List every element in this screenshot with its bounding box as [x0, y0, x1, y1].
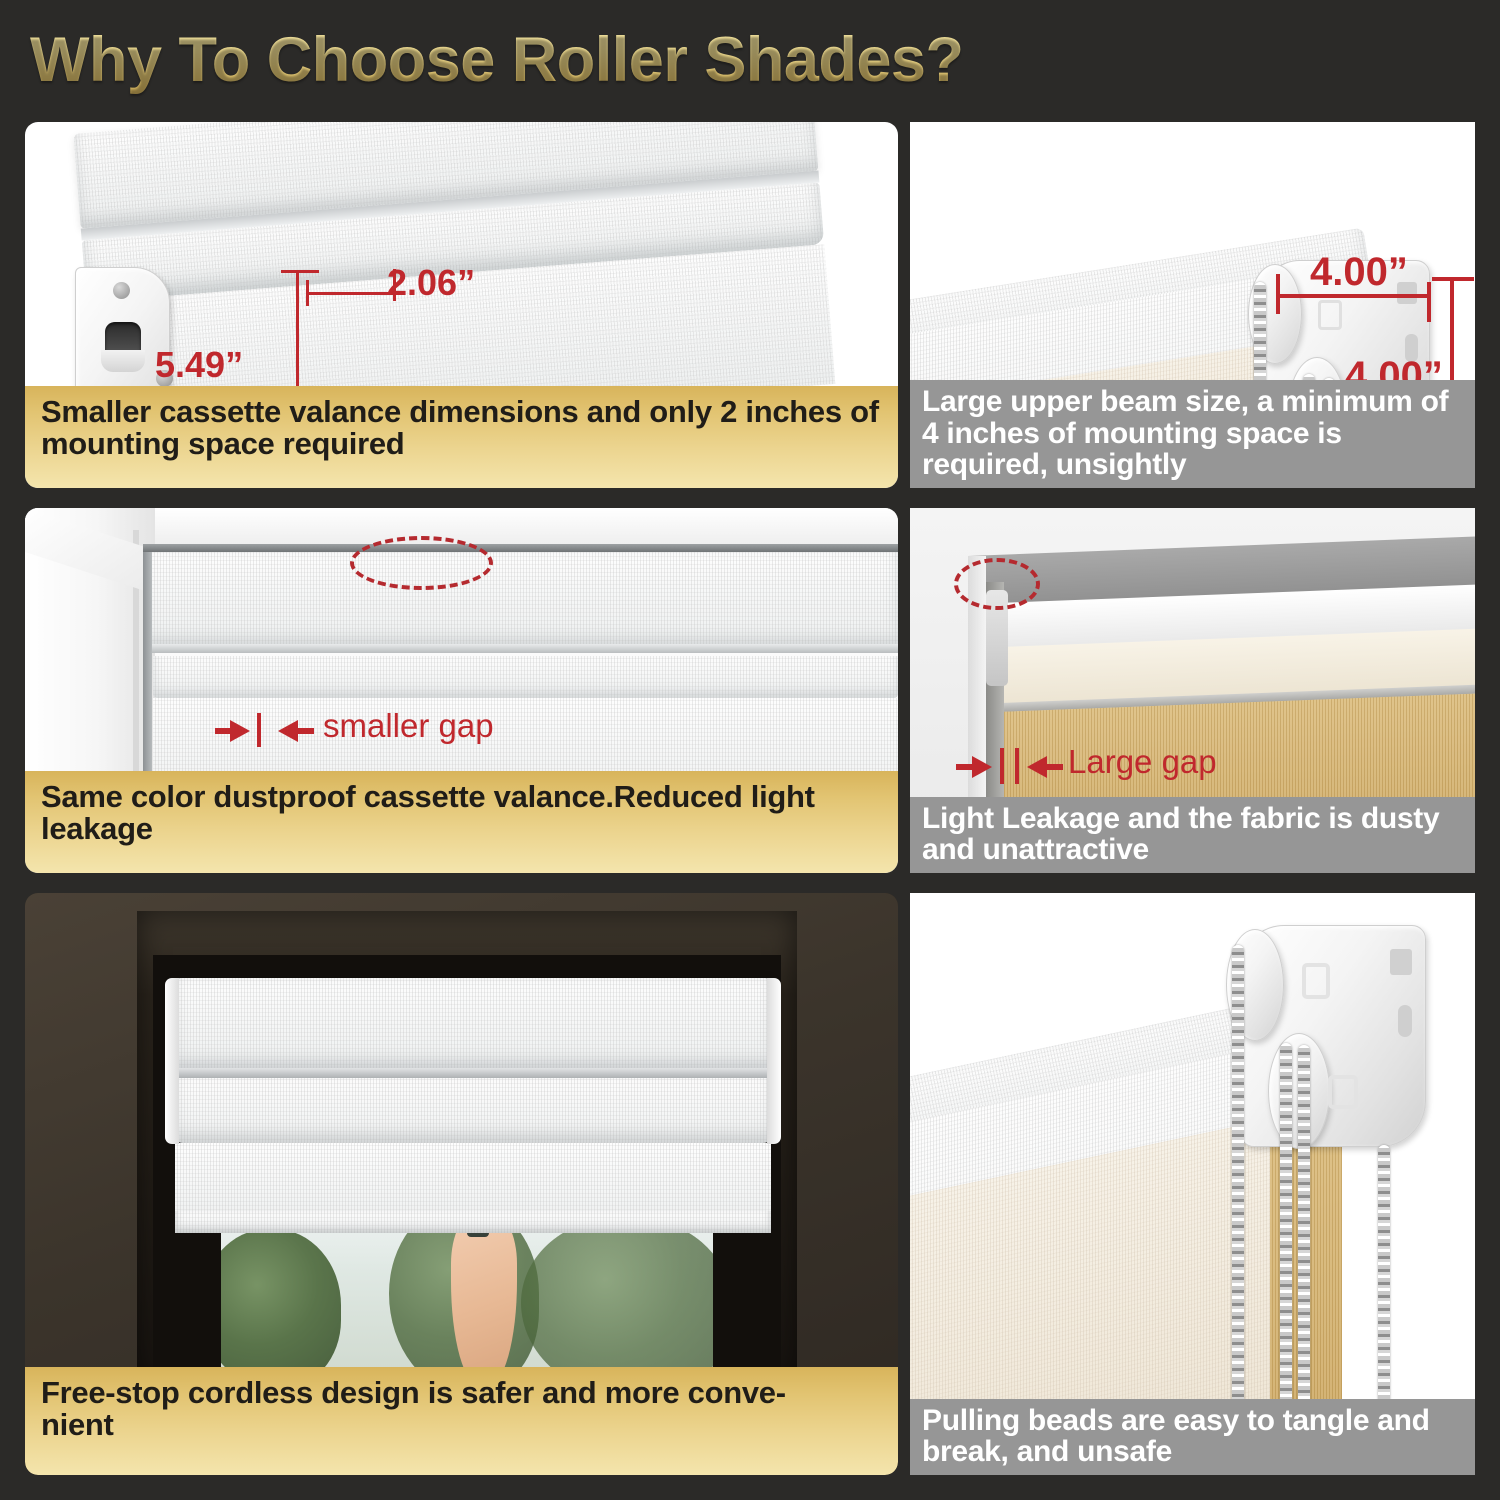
end-cap-lip [101, 350, 145, 372]
height-dim-tick-top [281, 270, 319, 273]
gap-callout-label: Large gap [1068, 743, 1217, 781]
panel-5-caption-line-1: Free-stop cordless design is safer and m… [41, 1377, 884, 1409]
panel-2-caption: Large upper beam size, a minimum of 4 in… [910, 380, 1475, 488]
panel-dustproof-valance: smaller gap Same color dustproof cassett… [25, 508, 898, 873]
panel-large-beam: 4.00” 4.00” Large upper beam size, a min… [910, 122, 1475, 488]
roller-shade-valance-bar [173, 1078, 773, 1143]
panel-1-caption: Smaller cassette valance dimensions and … [25, 386, 898, 488]
tree-left [221, 1229, 341, 1383]
panel-pulling-beads: Pulling beads are easy to tangle and bre… [910, 893, 1475, 1475]
width-dim-line [306, 292, 396, 295]
gap-arrow-right [1027, 756, 1047, 778]
panel-2-caption-text: Large upper beam size, a minimum of 4 in… [922, 385, 1448, 480]
cassette-lower-lip [143, 644, 898, 653]
panel-4-caption: Light Leakage and the fabric is dusty an… [910, 797, 1475, 873]
panel-6-caption-text: Pulling beads are easy to tangle and bre… [922, 1404, 1430, 1468]
bracket-emboss-1 [1302, 963, 1330, 999]
page-title: Why To Choose Roller Shades? [30, 20, 1130, 100]
roller-shade-bottom-bar [175, 1211, 771, 1233]
gap-arrow-left-tail [956, 764, 974, 770]
panel-4-caption-text: Light Leakage and the fabric is dusty an… [922, 802, 1439, 866]
height-dimension-label: 5.49” [155, 344, 243, 386]
gap-arrow-left [972, 756, 992, 778]
gap-arrow-left [230, 720, 250, 742]
bead-chain-1 [1232, 945, 1244, 1473]
panel-5-caption: Free-stop cordless design is safer and m… [25, 1367, 898, 1475]
panel-light-leakage: Large gap Light Leakage and the fabric i… [910, 508, 1475, 873]
shade-end-cap-right [767, 978, 781, 1144]
panel-6-photo [910, 893, 1475, 1475]
infographic-root: Why To Choose Roller Shades? [0, 0, 1500, 1500]
panel-6-caption: Pulling beads are easy to tangle and bre… [910, 1399, 1475, 1475]
valance-side-profile [143, 552, 152, 808]
gap-arrow-right [278, 720, 298, 742]
panel-1-caption-text: Smaller cassette valance dimensions and … [41, 394, 879, 461]
gap-highlight-ellipse-main [350, 536, 493, 590]
gap-marker-bar-1 [1000, 748, 1004, 784]
shade-end-cap-left [165, 978, 179, 1144]
roller-shade-headrail [173, 978, 773, 1068]
beam-width-label: 4.00” [1310, 250, 1408, 295]
gap-marker-bar-2 [1015, 748, 1019, 784]
beam-height-tick-top [1432, 277, 1474, 281]
width-dimension-label: 2.06” [387, 262, 475, 304]
gap-arrow-right-tail [1045, 764, 1063, 770]
bracket-emboss-1 [1318, 300, 1342, 330]
bracket-emboss-2 [1328, 1075, 1358, 1109]
tree-right [521, 1217, 713, 1383]
headrail-groove [173, 1068, 773, 1078]
cassette-top-edge [143, 544, 898, 552]
beam-width-tick-right [1427, 282, 1431, 322]
gap-arrow-right-tail [296, 728, 314, 734]
panel-cordless-design: Free-stop cordless design is safer and m… [25, 893, 898, 1475]
gap-highlight-ellipse [954, 558, 1040, 610]
outside-view [221, 1211, 713, 1383]
beam-width-tick-left [1276, 274, 1280, 314]
panel-5-caption-line-2: nient [41, 1409, 884, 1441]
bracket-notch-1 [1390, 949, 1412, 975]
gap-marker-bar [257, 713, 261, 747]
width-dim-tick-left [306, 280, 309, 306]
panel-3-caption: Same color dustproof cassette valance.Re… [25, 771, 898, 873]
screw-top [113, 282, 130, 299]
gap-arrow-left-tail [215, 728, 233, 734]
panel-smaller-cassette: 5.49” 2.06” Smaller cassette valance dim… [25, 122, 898, 488]
panel-3-caption-text: Same color dustproof cassette valance.Re… [41, 779, 815, 846]
bracket-notch-2 [1398, 1005, 1412, 1037]
gap-callout-label: smaller gap [323, 707, 494, 745]
